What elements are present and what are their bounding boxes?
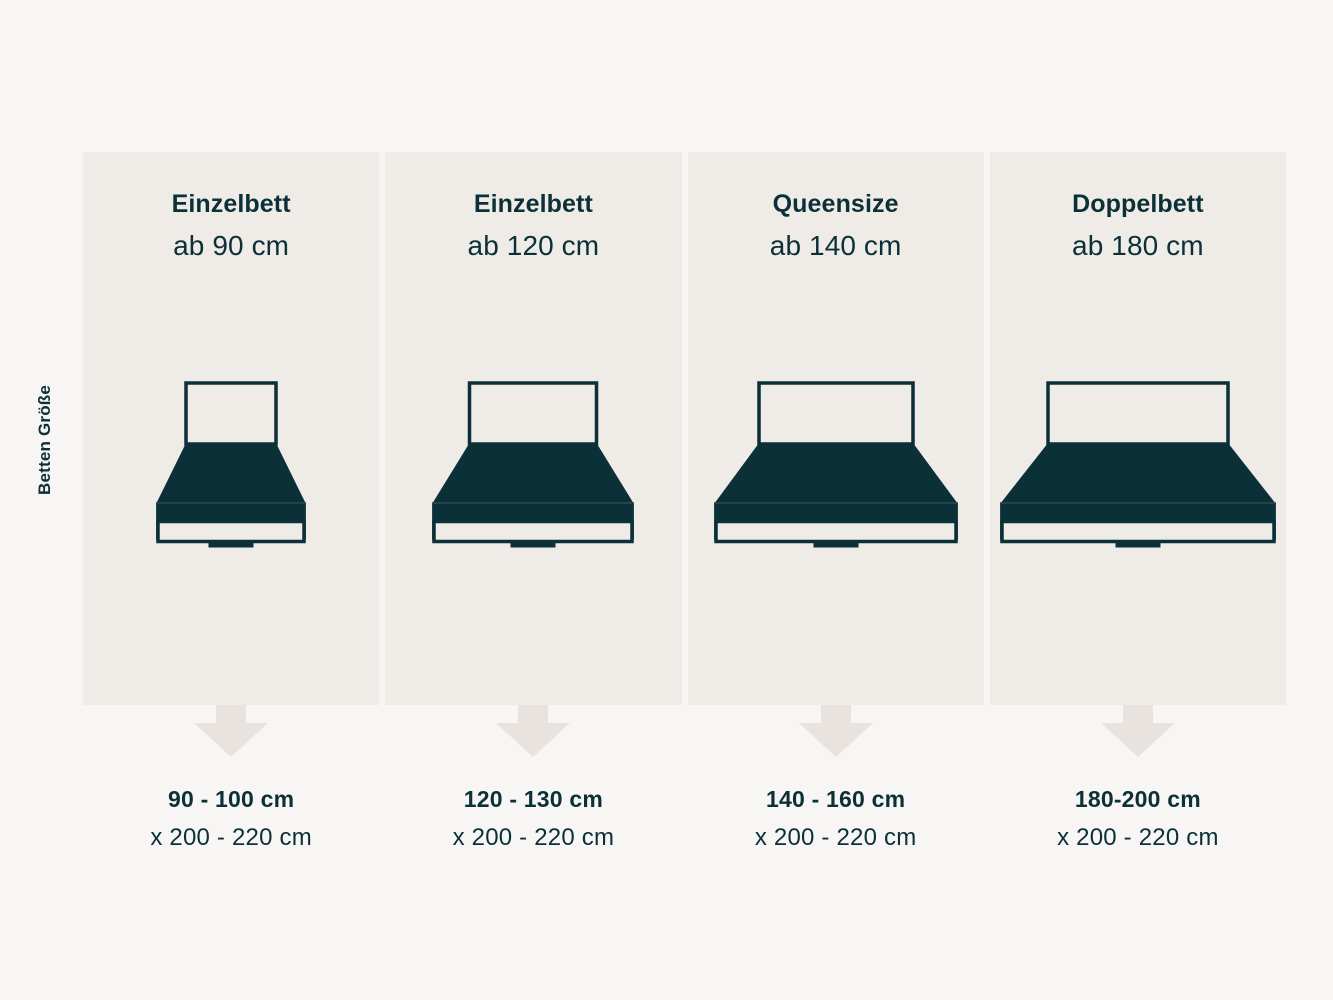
- dimension-width: 140 - 160 cm: [688, 788, 984, 811]
- size-column-queensize-140: Queensize ab 140 cm 140 - 160 cm x 200 -…: [688, 152, 984, 864]
- arrow-down-icon: [990, 705, 1286, 760]
- bed-single-wide-icon-graphic: [432, 378, 634, 550]
- bed-type-label: Doppelbett: [1072, 192, 1204, 217]
- dimension-caption: 120 - 130 cm x 200 - 220 cm: [385, 788, 681, 850]
- dimension-length: x 200 - 220 cm: [688, 826, 984, 850]
- bed-min-width-label: ab 180 cm: [1072, 232, 1204, 260]
- panel-heading: Einzelbett ab 120 cm: [468, 192, 600, 260]
- panel-queensize-140: Queensize ab 140 cm: [688, 152, 984, 705]
- dimension-width: 180-200 cm: [990, 788, 1286, 811]
- bed-min-width-label: ab 120 cm: [468, 232, 600, 260]
- size-column-einzelbett-120: Einzelbett ab 120 cm 120 - 130 cm x 200 …: [385, 152, 681, 864]
- dimension-length: x 200 - 220 cm: [83, 826, 379, 850]
- arrow-down-icon-graphic: [799, 705, 873, 757]
- arrow-down-icon-graphic: [1101, 705, 1175, 757]
- bed-single-icon-graphic: [156, 378, 306, 550]
- y-axis-label-text: Betten Größe: [35, 385, 55, 495]
- bed-double-icon-graphic: [1000, 378, 1276, 550]
- size-comparison-columns: Einzelbett ab 90 cm: [83, 152, 1286, 864]
- bed-min-width-label: ab 140 cm: [770, 232, 902, 260]
- bed-queen-icon: [688, 370, 984, 550]
- bed-single-wide-icon: [385, 370, 681, 550]
- dimension-caption: 90 - 100 cm x 200 - 220 cm: [83, 788, 379, 850]
- bed-double-icon: [990, 370, 1286, 550]
- size-column-einzelbett-90: Einzelbett ab 90 cm: [83, 152, 379, 864]
- panel-einzelbett-90: Einzelbett ab 90 cm: [83, 152, 379, 705]
- dimension-width: 120 - 130 cm: [385, 788, 681, 811]
- arrow-down-icon-graphic: [496, 705, 570, 757]
- arrow-down-icon: [688, 705, 984, 760]
- arrow-down-icon: [83, 705, 379, 760]
- dimension-width: 90 - 100 cm: [83, 788, 379, 811]
- bed-min-width-label: ab 90 cm: [172, 232, 291, 260]
- dimension-length: x 200 - 220 cm: [990, 826, 1286, 850]
- panel-einzelbett-120: Einzelbett ab 120 cm: [385, 152, 681, 705]
- size-column-doppelbett-180: Doppelbett ab 180 cm 180-200 cm x 200 - …: [990, 152, 1286, 864]
- panel-heading: Doppelbett ab 180 cm: [1072, 192, 1204, 260]
- panel-heading: Queensize ab 140 cm: [770, 192, 902, 260]
- dimension-caption: 140 - 160 cm x 200 - 220 cm: [688, 788, 984, 850]
- bed-queen-icon-graphic: [714, 378, 958, 550]
- panel-heading: Einzelbett ab 90 cm: [172, 192, 291, 260]
- panel-doppelbett-180: Doppelbett ab 180 cm: [990, 152, 1286, 705]
- bed-type-label: Einzelbett: [172, 192, 291, 217]
- y-axis-label: Betten Größe: [0, 330, 90, 550]
- bed-type-label: Queensize: [770, 192, 902, 217]
- dimension-length: x 200 - 220 cm: [385, 826, 681, 850]
- bed-type-label: Einzelbett: [468, 192, 600, 217]
- arrow-down-icon-graphic: [194, 705, 268, 757]
- dimension-caption: 180-200 cm x 200 - 220 cm: [990, 788, 1286, 850]
- arrow-down-icon: [385, 705, 681, 760]
- bed-single-icon: [83, 370, 379, 550]
